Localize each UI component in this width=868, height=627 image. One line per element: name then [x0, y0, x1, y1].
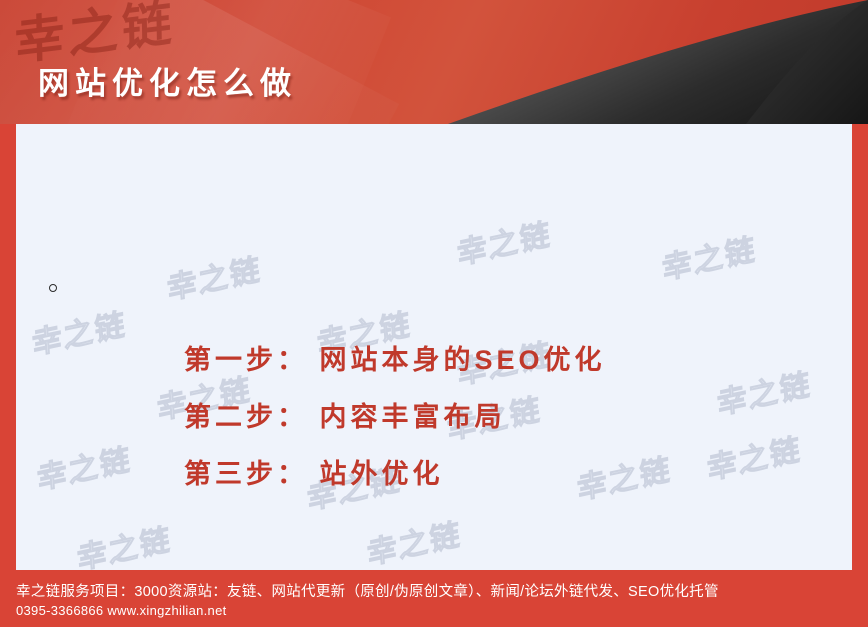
content-watermark: 幸之链 [365, 509, 462, 570]
slide-footer: 幸之链服务项目：3000资源站：友链、网站代更新（原创/伪原创文章）、新闻/论坛… [0, 570, 868, 627]
content-watermark: 幸之链 [35, 434, 132, 498]
content-watermark: 幸之链 [660, 224, 757, 288]
content-watermark: 幸之链 [165, 244, 262, 308]
header-swoosh-shape [348, 0, 868, 124]
content-card: 幸之链 幸之链 幸之链 幸之链 幸之链 幸之链 幸之链 幸之链 幸之链 幸之链 … [16, 124, 852, 570]
slide-header: 幸之链 网站优化怎么做 [0, 0, 868, 124]
footer-services-text: 幸之链服务项目：3000资源站：友链、网站代更新（原创/伪原创文章）、新闻/论坛… [16, 580, 719, 601]
content-watermark: 幸之链 [75, 514, 172, 570]
list-item: 第一步： 网站本身的SEO优化 [184, 332, 804, 389]
bullet-circle-icon [49, 284, 57, 292]
content-watermark: 幸之链 [30, 299, 127, 363]
slide-root: 幸之链 网站优化怎么做 幸之链 幸之链 幸之链 幸之链 幸之链 幸之链 幸之链 … [0, 0, 868, 627]
steps-list: 第一步： 网站本身的SEO优化 第二步： 内容丰富布局 第三步： 站外优化 [184, 332, 804, 503]
footer-contact-text: 0395-3366866 www.xingzhilian.net [16, 603, 227, 618]
list-item: 第三步： 站外优化 [184, 446, 804, 503]
page-title: 网站优化怎么做 [38, 58, 297, 103]
list-item: 第二步： 内容丰富布局 [184, 389, 804, 446]
content-watermark: 幸之链 [455, 209, 552, 273]
